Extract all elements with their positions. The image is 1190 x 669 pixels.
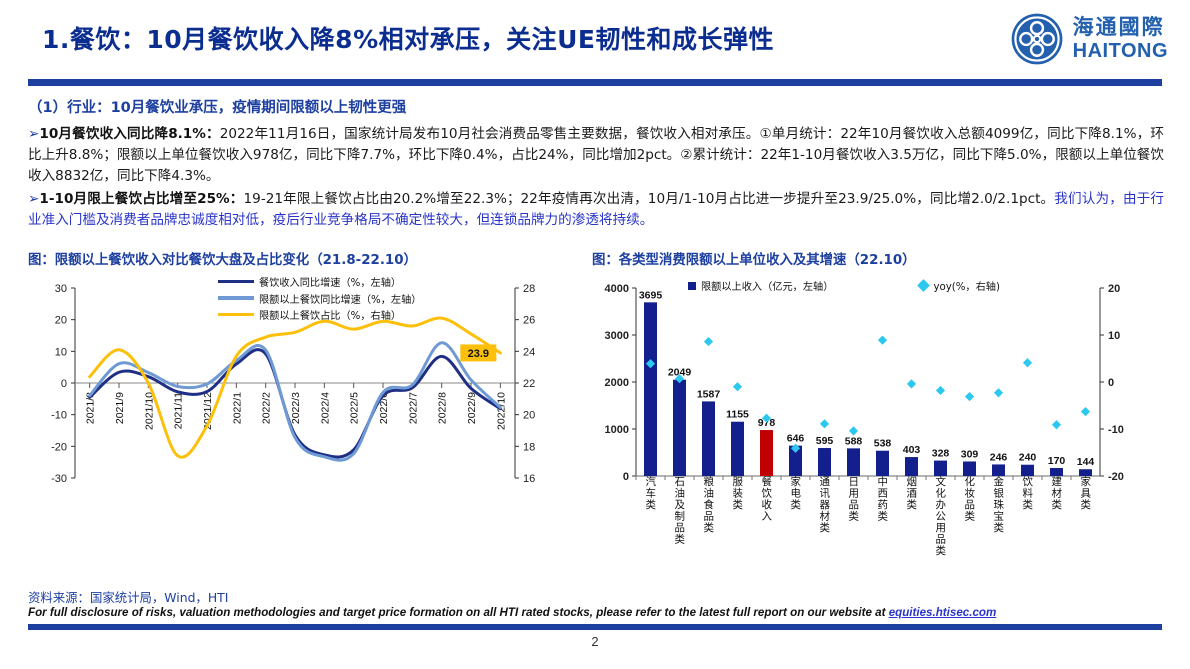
page-number: 2 (0, 634, 1190, 649)
svg-text:22: 22 (523, 378, 535, 390)
svg-text:0: 0 (1108, 377, 1114, 389)
svg-text:30: 30 (55, 283, 67, 295)
svg-text:化妆品类: 化妆品类 (965, 475, 976, 523)
paragraph-1-lead: 10月餐饮收入同比降8.1%： (39, 126, 219, 142)
body-text-block: （1）行业：10月餐饮业承压，疫情期间限额以上韧性更强 ➢10月餐饮收入同比降8… (28, 96, 1164, 234)
paragraph-2: ➢1-10月限上餐饮占比增至25%：19-21年限上餐饮占比由20.2%增至22… (28, 189, 1164, 231)
svg-text:2022/10: 2022/10 (495, 392, 507, 430)
svg-text:-20: -20 (51, 441, 67, 453)
line-chart-plot: -30-20-100102030161820222426282021/82021… (28, 280, 573, 575)
svg-text:-10: -10 (1108, 424, 1124, 436)
svg-text:1155: 1155 (726, 409, 749, 421)
svg-text:-20: -20 (1108, 471, 1124, 483)
svg-text:328: 328 (932, 448, 950, 460)
svg-text:餐饮收入: 餐饮收入 (762, 475, 773, 523)
disclaimer-link[interactable]: equities.htisec.com (889, 606, 997, 619)
svg-text:0: 0 (623, 471, 629, 483)
svg-text:粮油食品类: 粮油食品类 (704, 475, 715, 534)
logo-english-name: HAITONG (1073, 41, 1168, 61)
paragraph-2-text: 19-21年限上餐饮占比由20.2%增至22.3%；22年疫情再次出清，10月/… (244, 191, 1055, 207)
svg-text:文化办公用品类: 文化办公用品类 (936, 475, 947, 557)
svg-text:中西药类: 中西药类 (878, 475, 889, 523)
svg-text:2022/7: 2022/7 (407, 392, 419, 424)
svg-text:0: 0 (61, 378, 67, 390)
svg-text:144: 144 (1077, 456, 1095, 468)
svg-text:2022/2: 2022/2 (261, 392, 273, 424)
disclaimer-text: For full disclosure of risks, valuation … (28, 606, 1164, 619)
svg-text:饮料类: 饮料类 (1023, 475, 1034, 511)
svg-text:26: 26 (523, 315, 535, 327)
svg-text:23.9: 23.9 (468, 348, 489, 360)
svg-text:240: 240 (1019, 452, 1037, 464)
paragraph-2-lead: 1-10月限上餐饮占比增至25%： (39, 191, 243, 207)
svg-text:28: 28 (523, 283, 535, 295)
svg-text:烟酒类: 烟酒类 (907, 475, 918, 511)
haitong-logo-icon (1010, 12, 1064, 66)
bar-chart-plot: 01000200030004000-20-10010203695汽车类2049石… (592, 280, 1164, 575)
svg-text:538: 538 (874, 438, 892, 450)
svg-text:-10: -10 (51, 410, 67, 422)
svg-text:2022/3: 2022/3 (290, 392, 302, 424)
bullet-glyph-2: ➢ (28, 191, 39, 207)
svg-text:3695: 3695 (639, 289, 663, 301)
svg-text:595: 595 (816, 435, 834, 447)
logo-chinese-name: 海通國際 (1073, 17, 1168, 38)
page-header: 1.餐饮：10月餐饮收入降8%相对承压，关注UE韧性和成长弹性 海通國際 HAI… (0, 0, 1190, 88)
bar-chart-panel: 图：各类型消费限额以上单位收入及其增速（22.10） 限额以上收入（亿元，左轴）… (592, 248, 1164, 578)
haitong-logo: 海通國際 HAITONG (1010, 10, 1168, 68)
line-chart-panel: 图：限额以上餐饮收入对比餐饮大盘及占比变化（21.8-22.10） 餐饮收入同比… (28, 248, 573, 578)
svg-text:通讯器材类: 通讯器材类 (820, 476, 831, 534)
bar-chart-title: 图：各类型消费限额以上单位收入及其增速（22.10） (592, 248, 1164, 268)
line-chart-title: 图：限额以上餐饮收入对比餐饮大盘及占比变化（21.8-22.10） (28, 248, 573, 268)
svg-text:16: 16 (523, 473, 535, 485)
svg-text:建材类: 建材类 (1052, 475, 1063, 511)
svg-text:18: 18 (523, 441, 535, 453)
svg-text:20: 20 (1108, 283, 1120, 295)
svg-text:309: 309 (961, 448, 979, 460)
svg-text:2022/1: 2022/1 (231, 392, 243, 424)
svg-text:170: 170 (1048, 455, 1066, 467)
logo-wordmark: 海通國際 HAITONG (1073, 17, 1168, 61)
svg-text:-30: -30 (51, 473, 67, 485)
svg-text:家具类: 家具类 (1081, 475, 1092, 511)
disclaimer-prefix: For full disclosure of risks, valuation … (28, 606, 889, 619)
bullet-glyph-1: ➢ (28, 126, 39, 142)
svg-text:403: 403 (903, 444, 921, 456)
svg-text:4000: 4000 (605, 283, 629, 295)
svg-text:20: 20 (55, 315, 67, 327)
svg-text:3000: 3000 (605, 330, 629, 342)
svg-text:2021/11: 2021/11 (173, 392, 185, 429)
svg-text:2000: 2000 (605, 377, 629, 389)
svg-text:2022/4: 2022/4 (319, 392, 331, 424)
svg-text:24: 24 (523, 346, 535, 358)
svg-text:20: 20 (523, 410, 535, 422)
section-heading: （1）行业：10月餐饮业承压，疫情期间限额以上韧性更强 (28, 96, 1164, 117)
header-divider (28, 79, 1162, 86)
source-note: 资料来源：国家统计局，Wind，HTI (28, 588, 228, 606)
svg-text:金银珠宝类: 金银珠宝类 (994, 475, 1005, 534)
svg-text:石油及制品类: 石油及制品类 (675, 476, 686, 546)
svg-text:588: 588 (845, 435, 863, 447)
svg-text:日用品类: 日用品类 (849, 476, 860, 523)
svg-text:2022/5: 2022/5 (349, 392, 361, 424)
svg-text:1587: 1587 (697, 388, 721, 400)
svg-text:服装类: 服装类 (733, 476, 744, 511)
svg-text:646: 646 (787, 433, 805, 445)
svg-text:246: 246 (990, 451, 1008, 463)
footer-divider (28, 624, 1162, 630)
page-title: 1.餐饮：10月餐饮收入降8%相对承压，关注UE韧性和成长弹性 (42, 20, 972, 56)
svg-text:2022/8: 2022/8 (437, 392, 449, 424)
svg-text:1000: 1000 (605, 424, 629, 436)
svg-text:家电类: 家电类 (791, 475, 802, 511)
svg-text:2021/9: 2021/9 (114, 392, 126, 424)
svg-text:10: 10 (55, 346, 67, 358)
svg-text:汽车类: 汽车类 (646, 475, 657, 511)
paragraph-1: ➢10月餐饮收入同比降8.1%：2022年11月16日，国家统计局发布10月社会… (28, 124, 1164, 186)
svg-text:10: 10 (1108, 330, 1120, 342)
svg-text:2022/9: 2022/9 (466, 392, 478, 424)
